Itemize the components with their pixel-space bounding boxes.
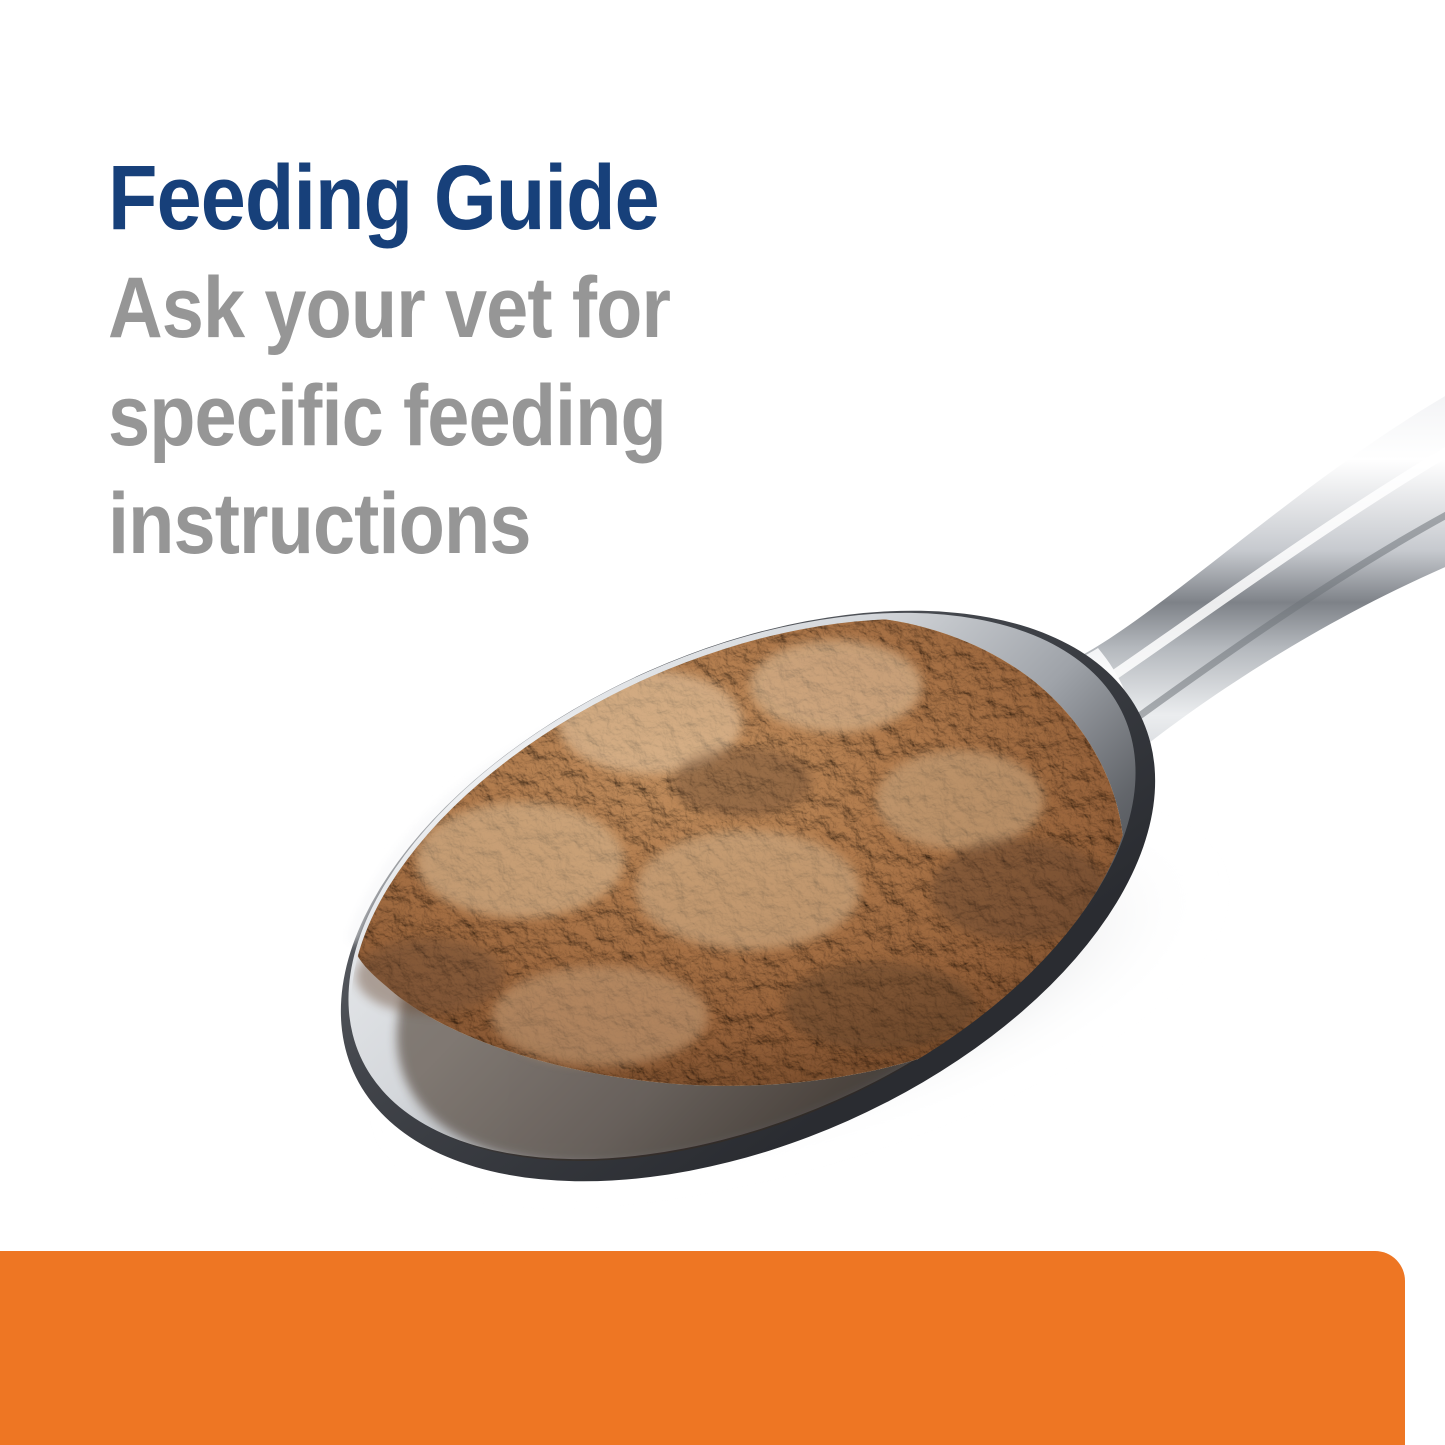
page-title: Feeding Guide <box>108 150 882 246</box>
spoon-illustration <box>0 330 1445 1230</box>
footer-band <box>0 1251 1405 1445</box>
spoon-of-pet-food-image <box>0 330 1445 1230</box>
feeding-guide-panel: Feeding Guide Ask your vet for specific … <box>0 0 1445 1445</box>
